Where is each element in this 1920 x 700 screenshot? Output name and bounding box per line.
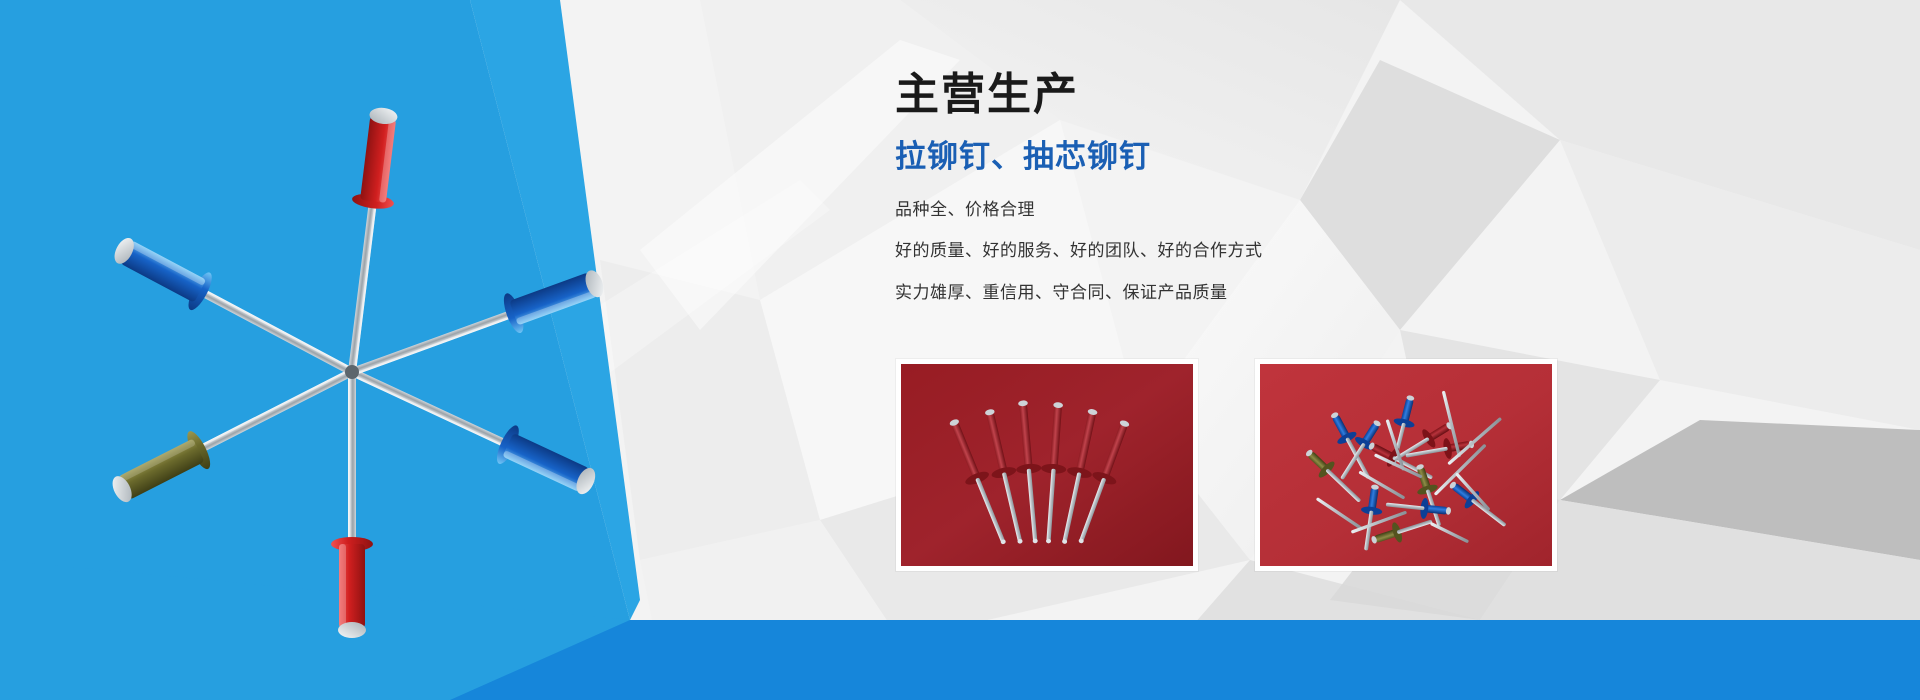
page-title: 主营生产 — [895, 70, 1655, 121]
product-photo-gallery — [896, 359, 1557, 571]
hero-banner: 主营生产 拉铆钉、抽芯铆钉 品种全、价格合理 好的质量、好的服务、好的团队、好的… — [0, 0, 1920, 700]
hero-copy: 主营生产 拉铆钉、抽芯铆钉 品种全、价格合理 好的质量、好的服务、好的团队、好的… — [895, 70, 1655, 324]
photo-assorted-rivets-pile — [1260, 364, 1552, 566]
photo-red-rivets-fan — [901, 364, 1193, 566]
product-subtitle: 拉铆钉、抽芯铆钉 — [895, 139, 1655, 176]
product-photo-2 — [1255, 359, 1557, 571]
selling-point-3: 实力雄厚、重信用、守合同、保证产品质量 — [895, 283, 1655, 303]
selling-point-1: 品种全、价格合理 — [895, 200, 1655, 220]
product-photo-1 — [896, 359, 1198, 571]
selling-point-2: 好的质量、好的服务、好的团队、好的合作方式 — [895, 241, 1655, 261]
selling-points-list: 品种全、价格合理 好的质量、好的服务、好的团队、好的合作方式 实力雄厚、重信用、… — [895, 200, 1655, 303]
